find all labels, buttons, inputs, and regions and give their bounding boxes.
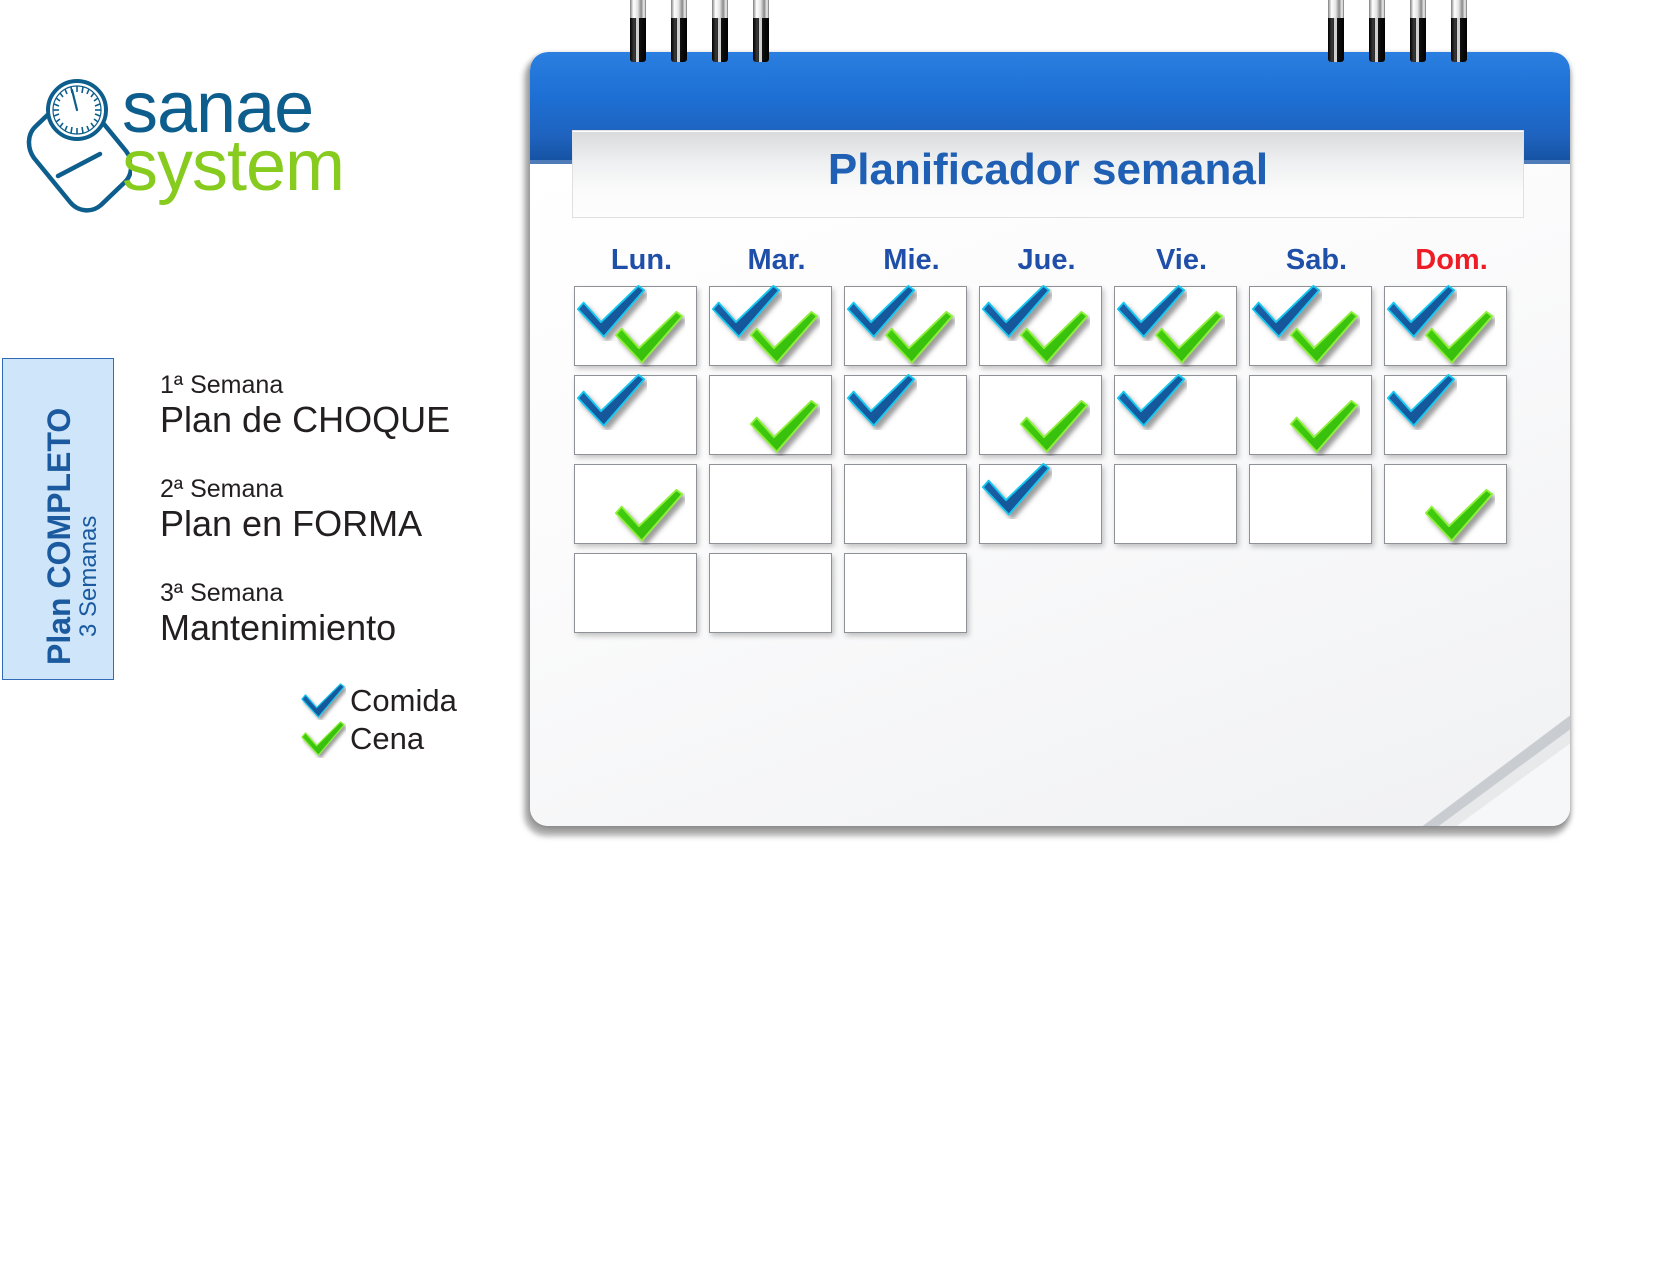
week-title: Mantenimiento bbox=[160, 606, 580, 650]
blue-check-icon[interactable] bbox=[575, 372, 647, 430]
green-check-icon[interactable] bbox=[613, 487, 685, 545]
brand-logo: sanae system bbox=[22, 68, 352, 238]
planner-cell-wrap bbox=[709, 375, 844, 455]
green-check-icon[interactable] bbox=[1018, 398, 1090, 456]
green-check-icon[interactable] bbox=[883, 309, 955, 367]
planner-cell-wrap bbox=[1249, 553, 1384, 633]
planner-row bbox=[574, 375, 1524, 455]
planner-day-cell[interactable] bbox=[574, 286, 697, 366]
plan-badge-subtitle: 3 Semanas bbox=[75, 516, 103, 637]
planner-cell-wrap bbox=[844, 553, 979, 633]
planner-day-cell[interactable] bbox=[574, 553, 697, 633]
green-check-icon[interactable] bbox=[1153, 309, 1225, 367]
planner-cell-wrap bbox=[1249, 375, 1384, 455]
spiral-ring-icon bbox=[1369, 0, 1385, 62]
planner-cell-wrap bbox=[574, 464, 709, 544]
planner-day-cell[interactable] bbox=[1249, 286, 1372, 366]
green-check-icon[interactable] bbox=[613, 309, 685, 367]
planner-day-cell[interactable] bbox=[844, 375, 967, 455]
green-check-icon[interactable] bbox=[1018, 309, 1090, 367]
planner-cell-wrap bbox=[979, 553, 1114, 633]
planner-day-cell[interactable] bbox=[1114, 375, 1237, 455]
scale-clock-icon bbox=[22, 68, 132, 228]
planner-cell-wrap bbox=[1114, 375, 1249, 455]
planner-day-cell[interactable] bbox=[709, 375, 832, 455]
blue-check-icon bbox=[300, 682, 346, 720]
green-check-icon[interactable] bbox=[1423, 487, 1495, 545]
planner-cell-wrap bbox=[709, 553, 844, 633]
day-header-sab: Sab. bbox=[1249, 244, 1384, 277]
planner-cell-wrap bbox=[1114, 464, 1249, 544]
brand-name-line2: system bbox=[122, 130, 344, 202]
green-check-icon[interactable] bbox=[1288, 309, 1360, 367]
planner-day-cell[interactable] bbox=[844, 464, 967, 544]
planner-cell-wrap bbox=[1249, 464, 1384, 544]
planner-cell-wrap bbox=[844, 286, 979, 366]
week-label: 3ª Semana bbox=[160, 578, 580, 608]
green-check-icon bbox=[300, 720, 346, 758]
planner-cell-wrap bbox=[1384, 553, 1519, 633]
planner-day-cell[interactable] bbox=[844, 553, 967, 633]
weekly-planner-calendar: Planificador semanal Lun. Mar. Mie. Jue.… bbox=[530, 52, 1570, 826]
planner-cell-wrap bbox=[979, 464, 1114, 544]
planner-day-cell[interactable] bbox=[709, 286, 832, 366]
planner-cell-wrap bbox=[979, 375, 1114, 455]
day-header-dom: Dom. bbox=[1384, 244, 1519, 277]
blue-check-icon[interactable] bbox=[845, 372, 917, 430]
planner-day-cell[interactable] bbox=[1249, 464, 1372, 544]
spiral-ring-icon bbox=[712, 0, 728, 62]
spiral-ring-icon bbox=[1410, 0, 1426, 62]
green-check-icon[interactable] bbox=[748, 398, 820, 456]
planner-day-cell[interactable] bbox=[709, 553, 832, 633]
planner-cell-wrap bbox=[574, 375, 709, 455]
planner-row bbox=[574, 464, 1524, 544]
planner-day-cell[interactable] bbox=[1249, 375, 1372, 455]
spiral-ring-icon bbox=[630, 0, 646, 62]
planner-day-cell[interactable] bbox=[1384, 286, 1507, 366]
spiral-ring-icon bbox=[1328, 0, 1344, 62]
planner-day-cell[interactable] bbox=[1384, 375, 1507, 455]
planner-day-cell[interactable] bbox=[574, 375, 697, 455]
day-header-mie: Mie. bbox=[844, 244, 979, 277]
week-title: Plan de CHOQUE bbox=[160, 398, 580, 442]
spiral-ring-icon bbox=[671, 0, 687, 62]
day-header-row: Lun. Mar. Mie. Jue. Vie. Sab. Dom. bbox=[574, 244, 1524, 277]
planner-day-cell[interactable] bbox=[574, 464, 697, 544]
week-item: 2ª Semana Plan en FORMA bbox=[160, 474, 580, 546]
day-header-mar: Mar. bbox=[709, 244, 844, 277]
planner-cell-wrap bbox=[1384, 375, 1519, 455]
day-header-jue: Jue. bbox=[979, 244, 1114, 277]
spiral-ring-icon bbox=[753, 0, 769, 62]
week-title: Plan en FORMA bbox=[160, 502, 580, 546]
planner-cell-wrap bbox=[1249, 286, 1384, 366]
page-fold-corner bbox=[1420, 714, 1570, 826]
plan-badge: Plan COMPLETO 3 Semanas bbox=[2, 358, 114, 680]
planner-day-cell[interactable] bbox=[979, 375, 1102, 455]
planner-cell-wrap bbox=[709, 464, 844, 544]
planner-cell-wrap bbox=[1114, 553, 1249, 633]
day-header-lun: Lun. bbox=[574, 244, 709, 277]
blue-check-icon[interactable] bbox=[1115, 372, 1187, 430]
planner-grid-rows bbox=[574, 286, 1524, 633]
legend-label: Cena bbox=[350, 720, 424, 758]
planner-day-cell[interactable] bbox=[979, 464, 1102, 544]
page-title: Planificador semanal bbox=[573, 145, 1523, 195]
green-check-icon[interactable] bbox=[1423, 309, 1495, 367]
week-plan-list: 1ª Semana Plan de CHOQUE 2ª Semana Plan … bbox=[160, 370, 580, 682]
week-label: 2ª Semana bbox=[160, 474, 580, 504]
planner-day-cell[interactable] bbox=[844, 286, 967, 366]
green-check-icon[interactable] bbox=[748, 309, 820, 367]
legend-label: Comida bbox=[350, 682, 457, 720]
planner-cell-wrap bbox=[574, 553, 709, 633]
week-item: 1ª Semana Plan de CHOQUE bbox=[160, 370, 580, 442]
planner-cell-wrap bbox=[1384, 286, 1519, 366]
plan-badge-title: Plan COMPLETO bbox=[41, 408, 78, 665]
planner-cell-wrap bbox=[844, 464, 979, 544]
spiral-ring-icon bbox=[1451, 0, 1467, 62]
planner-cell-wrap bbox=[979, 286, 1114, 366]
planner-day-cell[interactable] bbox=[1114, 464, 1237, 544]
blue-check-icon[interactable] bbox=[980, 461, 1052, 519]
planner-day-cell[interactable] bbox=[1384, 464, 1507, 544]
green-check-icon[interactable] bbox=[1288, 398, 1360, 456]
planner-cell-wrap bbox=[1384, 464, 1519, 544]
planner-grid: Lun. Mar. Mie. Jue. Vie. Sab. Dom. bbox=[574, 244, 1524, 633]
planner-row bbox=[574, 286, 1524, 366]
planner-day-cell[interactable] bbox=[1114, 286, 1237, 366]
planner-row bbox=[574, 553, 1524, 633]
day-header-vie: Vie. bbox=[1114, 244, 1249, 277]
week-label: 1ª Semana bbox=[160, 370, 580, 400]
week-item: 3ª Semana Mantenimiento bbox=[160, 578, 580, 650]
calendar-title-panel: Planificador semanal bbox=[572, 130, 1524, 218]
blue-check-icon[interactable] bbox=[1385, 372, 1457, 430]
planner-cell-wrap bbox=[844, 375, 979, 455]
planner-cell-wrap bbox=[709, 286, 844, 366]
planner-cell-wrap bbox=[1114, 286, 1249, 366]
planner-day-cell[interactable] bbox=[709, 464, 832, 544]
planner-day-cell[interactable] bbox=[979, 286, 1102, 366]
planner-cell-wrap bbox=[574, 286, 709, 366]
